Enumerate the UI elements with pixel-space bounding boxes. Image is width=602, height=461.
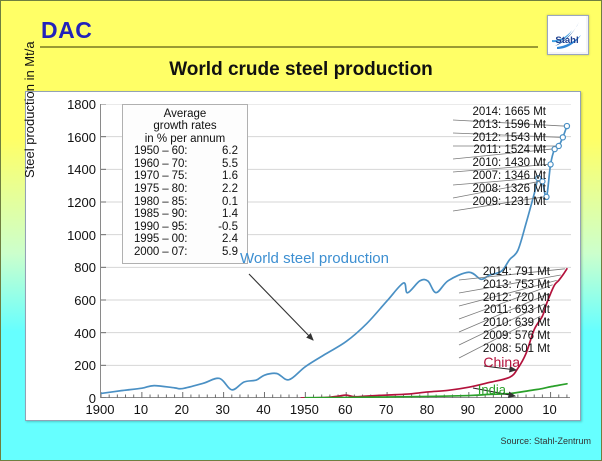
world-annotation-item: 2011: 1524 Mt [472,144,546,157]
logo-wordmark: Stahl [555,35,578,46]
world-annotation-item: 2012: 1543 Mt [472,132,546,145]
china-annotation-item: 2014: 791 Mt [483,266,550,279]
china-annotation-item: 2013: 753 Mt [483,279,550,292]
growth-rate-row: 1960 – 70:5.5 [128,158,242,171]
growth-rate-period: 1990 – 95: [134,221,187,234]
china-annotation-item: 2011: 693 Mt [483,304,550,317]
growth-rate-value: 1.4 [216,208,238,221]
growth-rate-period: 1950 – 60: [134,145,187,158]
growth-rate-row: 1950 – 60:6.2 [128,145,242,158]
y-tick: 1400 [50,163,96,176]
world-annotation-item: 2008: 1326 Mt [472,183,546,196]
growth-rate-value: 5.9 [216,246,238,259]
chart-title: World crude steel production [1,59,601,81]
china-annotation-item: 2009: 576 Mt [483,330,550,343]
y-tick: 1000 [50,229,96,242]
slide-canvas: DAC Stahl World crude steel production S… [0,0,602,461]
growth-box-heading-1: Average [128,108,242,120]
world-label-arrow [249,274,313,340]
world-annotation-item: 2007: 1346 Mt [472,170,546,183]
growth-rate-period: 1985 – 90: [134,208,187,221]
y-axis-label: Steel production in Mt/a [22,41,37,178]
growth-rate-value: -0.5 [216,221,238,234]
growth-rate-value: 2.4 [216,233,238,246]
logo-icon: Stahl [548,16,586,52]
growth-rate-period: 1980 – 85: [134,196,187,209]
growth-rate-row: 1995 – 00:2.4 [128,233,242,246]
data-point-marker [560,135,565,140]
y-tick: 800 [50,261,96,274]
header-divider [40,46,538,48]
growth-rate-value: 0.1 [216,196,238,209]
world-annotation-list: 2014: 1665 Mt2013: 1596 Mt2012: 1543 Mt2… [472,106,546,208]
growth-rate-rows: 1950 – 60:6.21960 – 70:5.51970 – 75:1.61… [128,145,242,258]
growth-rate-row: 2000 – 07:5.9 [128,246,242,259]
growth-rate-value: 1.6 [216,170,238,183]
chart-frame: Steel production in Mt/a 1800 1600 1400 … [25,91,581,421]
china-annotation-item: 2010: 639 Mt [483,317,550,330]
china-annotation-item: 2012: 720 Mt [483,292,550,305]
growth-rate-period: 1975 – 80: [134,183,187,196]
world-annotation-item: 2010: 1430 Mt [472,157,546,170]
world-annotation-item: 2009: 1231 Mt [472,196,546,209]
world-annotation-item: 2013: 1596 Mt [472,119,546,132]
stahl-logo: Stahl [547,15,589,55]
world-annotation-item: 2014: 1665 Mt [472,106,546,119]
page-title: DAC [41,17,92,44]
growth-rate-period: 1970 – 75: [134,170,187,183]
growth-rate-period: 1960 – 70: [134,158,187,171]
y-tick: 200 [50,359,96,372]
growth-box-heading-3: in % per annum [128,133,242,145]
growth-box-heading-2: growth rates [128,120,242,132]
growth-rate-row: 1990 – 95:-0.5 [128,221,242,234]
y-tick: 600 [50,294,96,307]
growth-rate-row: 1985 – 90:1.4 [128,208,242,221]
y-tick: 1600 [50,131,96,144]
growth-rate-row: 1980 – 85:0.1 [128,196,242,209]
growth-rate-value: 6.2 [216,145,238,158]
china-series-label: China [483,354,520,370]
data-point-marker [564,123,569,128]
world-series-label: World steel production [240,250,389,267]
growth-rate-row: 1975 – 80:2.2 [128,183,242,196]
y-tick: 400 [50,327,96,340]
x-tick-label: 10 [526,402,574,417]
source-note: Source: Stahl-Zentrum [500,436,591,446]
y-tick: 1200 [50,196,96,209]
growth-rate-period: 2000 – 07: [134,246,187,259]
china-annotation-list: 2014: 791 Mt2013: 753 Mt2012: 720 Mt2011… [483,266,550,356]
growth-rate-value: 5.5 [216,158,238,171]
y-tick: 1800 [50,98,96,111]
india-series-label: India [478,382,506,397]
growth-rates-box: Average growth rates in % per annum 1950… [122,104,248,264]
growth-rate-row: 1970 – 75:1.6 [128,170,242,183]
growth-rate-period: 1995 – 00: [134,233,187,246]
data-point-marker [548,162,553,167]
growth-rate-value: 2.2 [216,183,238,196]
data-point-marker [556,143,561,148]
y-axis-ticks: 1800 1600 1400 1200 1000 800 600 400 200… [44,92,96,420]
